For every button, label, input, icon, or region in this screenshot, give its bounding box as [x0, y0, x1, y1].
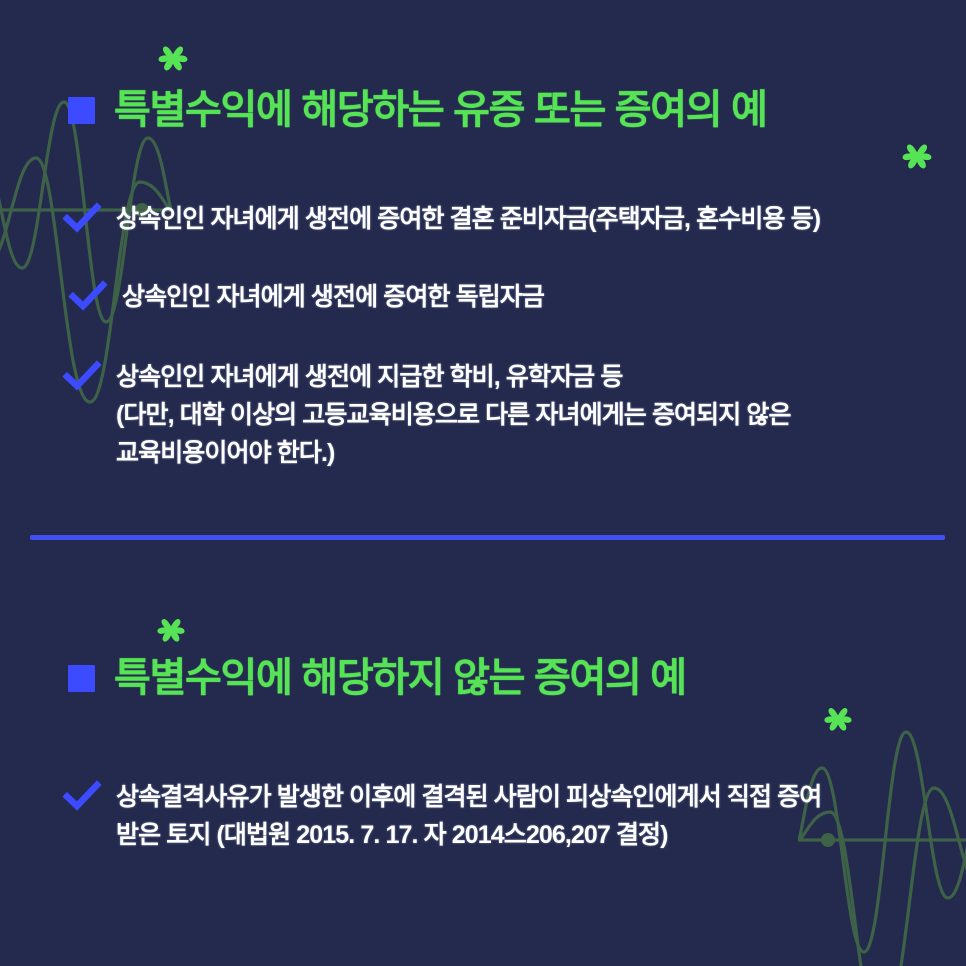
list-item: 상속인인 자녀에게 생전에 증여한 결혼 준비자금(주택자금, 혼수비용 등) — [62, 200, 962, 238]
list-item-text: 상속인인 자녀에게 생전에 증여한 결혼 준비자금(주택자금, 혼수비용 등) — [116, 200, 820, 238]
check-icon — [62, 360, 102, 392]
list-item: 상속인인 자녀에게 생전에 증여한 독립자금 — [68, 278, 958, 316]
check-icon — [68, 280, 108, 312]
section-divider — [30, 535, 945, 540]
list-item-text: 상속결격사유가 발생한 이후에 결격된 사람이 피상속인에게서 직접 증여 받은… — [116, 778, 821, 854]
square-bullet-icon — [68, 665, 95, 692]
check-icon — [62, 202, 102, 234]
list-item-text: 상속인인 자녀에게 생전에 지급한 학비, 유학자금 등 (다만, 대학 이상의… — [116, 358, 791, 472]
sparkle-icon-top-right — [900, 138, 934, 172]
sparkle-icon-bottom-right — [822, 702, 854, 734]
check-icon — [62, 780, 102, 812]
sparkle-icon-mid-left — [155, 613, 187, 645]
sparkle-icon-top-left — [156, 40, 190, 74]
section-title-excluded: 특별수익에 해당하지 않는 증여의 예 — [114, 657, 686, 699]
section-title-included: 특별수익에 해당하는 유증 또는 증여의 예 — [114, 89, 767, 131]
section-heading-included: 특별수익에 해당하는 유증 또는 증여의 예 — [68, 89, 767, 131]
list-item: 상속인인 자녀에게 생전에 지급한 학비, 유학자금 등 (다만, 대학 이상의… — [62, 358, 962, 472]
infographic-card: 특별수익에 해당하는 유증 또는 증여의 예 상속인인 자녀에게 생전에 증여한… — [0, 0, 966, 966]
square-bullet-icon — [68, 97, 95, 124]
section-heading-excluded: 특별수익에 해당하지 않는 증여의 예 — [68, 657, 686, 699]
list-item-text: 상속인인 자녀에게 생전에 증여한 독립자금 — [122, 278, 544, 316]
list-item: 상속결격사유가 발생한 이후에 결격된 사람이 피상속인에게서 직접 증여 받은… — [62, 778, 962, 854]
